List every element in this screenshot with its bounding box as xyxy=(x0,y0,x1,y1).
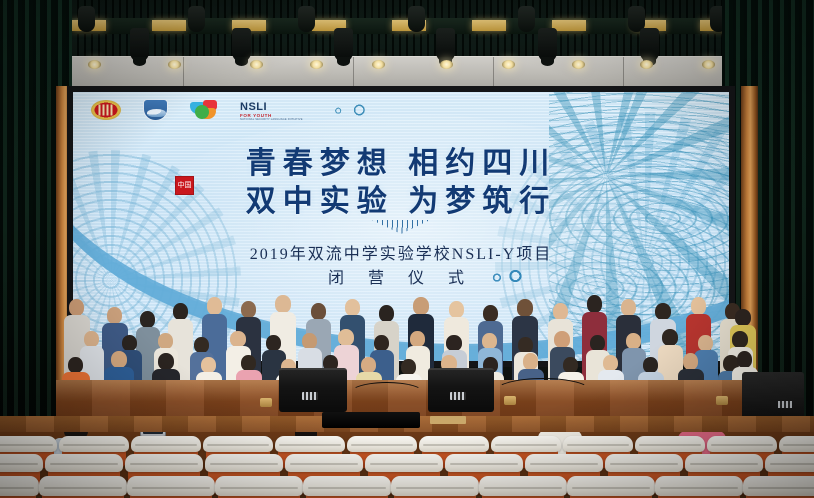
stage-marker-block xyxy=(504,396,516,405)
spotlight-icon xyxy=(518,6,535,32)
nsli-wordmark-logo: NSLI FOR YOUTH NATIONAL SECURITY LANGUAG… xyxy=(240,98,303,121)
auditorium-seat[interactable] xyxy=(482,482,564,498)
auditorium-seat[interactable] xyxy=(130,482,212,498)
stage-light-barndoor xyxy=(472,20,506,31)
nsli-logo-line1: NSLI xyxy=(240,101,267,113)
auditorium-seat[interactable] xyxy=(306,482,388,498)
stage-lamp-icon xyxy=(88,60,101,69)
auditorium-seat[interactable] xyxy=(42,482,124,498)
stage-lamp-icon xyxy=(310,60,323,69)
auditorium-seating xyxy=(0,432,814,498)
stage-lamp-icon xyxy=(250,60,263,69)
colorful-blob-logo xyxy=(190,100,218,120)
stage-lamp-icon xyxy=(702,60,715,69)
auditorium-seat[interactable] xyxy=(0,482,36,498)
group-photo-crowd xyxy=(56,250,758,395)
school-crest-logo xyxy=(91,100,121,120)
auditorium-seat[interactable] xyxy=(394,482,476,498)
spotlight-icon xyxy=(78,6,95,32)
hanging-spotlight-icon xyxy=(436,28,455,62)
stage-lamp-icon xyxy=(372,60,385,69)
stage-monitor-speaker-left xyxy=(279,368,347,412)
stage-speaker-right xyxy=(742,372,804,420)
photo-scene: NSLI FOR YOUTH NATIONAL SECURITY LANGUAG… xyxy=(0,0,814,498)
spotlight-icon xyxy=(408,6,425,32)
spotlight-icon xyxy=(188,6,205,32)
stage-lamp-icon xyxy=(572,60,585,69)
spotlight-icon xyxy=(298,6,315,32)
auditorium-seat[interactable] xyxy=(570,482,652,498)
banner-title-line2: 双中实验 为梦筑行 xyxy=(73,176,729,220)
tech-equipment-monitor xyxy=(322,412,420,428)
stage-marker-block xyxy=(716,396,728,405)
stage-lamp-icon xyxy=(502,60,515,69)
stage-marker-block xyxy=(260,398,272,407)
hanging-spotlight-icon xyxy=(232,28,251,62)
hanging-spotlight-icon xyxy=(334,28,353,62)
audio-cable xyxy=(350,382,424,404)
stage-light-barndoor xyxy=(152,20,186,31)
auditorium-seat[interactable] xyxy=(746,482,814,498)
stage-lamp-icon xyxy=(640,60,653,69)
stage-lamp-icon xyxy=(440,60,453,69)
blue-shield-logo xyxy=(143,99,168,121)
red-seal-stamp: 中国 xyxy=(175,176,194,195)
hanging-spotlight-icon xyxy=(130,28,149,62)
hanging-spotlight-icon xyxy=(640,28,659,62)
auditorium-seat[interactable] xyxy=(218,482,300,498)
hanging-spotlight-icon xyxy=(538,28,557,62)
nsli-logo-line3: NATIONAL SECURITY LANGUAGE INITIATIVE xyxy=(240,119,303,122)
wave-swirl-logo xyxy=(325,103,369,117)
tech-equipment-tray xyxy=(430,416,466,424)
sponsor-logo-row: NSLI FOR YOUTH NATIONAL SECURITY LANGUAG… xyxy=(91,98,369,121)
auditorium-seat[interactable] xyxy=(658,482,740,498)
stage-light-barndoor xyxy=(552,20,586,31)
stage-monitor-speaker-right xyxy=(428,368,494,412)
stage-lamp-icon xyxy=(168,60,181,69)
